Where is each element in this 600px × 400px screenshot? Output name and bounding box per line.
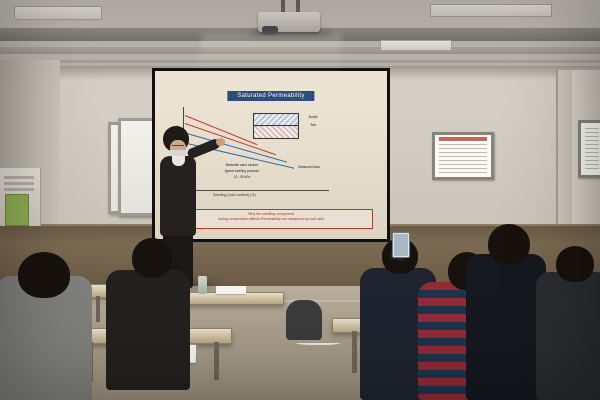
water-bottle [198, 276, 207, 294]
chart-annotation-pressure: typical swelling pressure [207, 169, 277, 173]
chart-legend-model: Model [299, 115, 327, 119]
audience-head [132, 238, 172, 278]
notice-text-lines [585, 128, 599, 171]
notice-text-lines [439, 140, 487, 173]
air-conditioner-grill-icon [4, 176, 34, 179]
desk-leg [96, 296, 100, 322]
chart-annotation-range: 10 - 50 kPa [207, 175, 277, 179]
presenter-body [160, 156, 196, 236]
chart-x-label: Swelling (void content) (%) [213, 193, 256, 197]
projector-mount-rod [296, 0, 300, 12]
smartphone-screen [394, 234, 408, 256]
chart-band-test [253, 125, 299, 139]
desk-leg [214, 342, 219, 380]
audience-member [286, 300, 322, 340]
slide-highlight-box: Why the swelling component during constr… [169, 209, 373, 229]
smartphone[interactable] [392, 232, 410, 258]
audience-member [106, 270, 190, 390]
framed-notice [578, 120, 600, 178]
framed-notice [432, 132, 494, 180]
audience-head [18, 252, 70, 298]
audience-head [556, 246, 594, 282]
papers-on-desk [216, 286, 246, 294]
chart-annotation-measured: Measured data [287, 165, 331, 169]
audience-member [466, 254, 546, 400]
slide-title: Saturated Permeability [227, 91, 314, 101]
desk-leg [352, 331, 357, 373]
presenter-hand [216, 138, 225, 146]
ceiling-light [430, 4, 552, 17]
audience-head [488, 224, 530, 264]
presenter-glasses-icon [172, 145, 184, 149]
chart-legend-test: Test [299, 123, 327, 127]
chart-annotation-bentonite: Bentonite sand mixture [207, 163, 277, 167]
power-cable [296, 340, 340, 345]
ceiling-light [14, 6, 102, 20]
audience-member [536, 272, 600, 400]
ceiling-light [380, 40, 452, 51]
chart-x-axis [183, 190, 329, 191]
classroom-photo: Saturated Permeability Permeability (m/s… [0, 0, 600, 400]
slide-highlight-line-2: during construction affects Permeability… [170, 217, 372, 222]
projector-light-beam [198, 34, 342, 74]
wall-poster [5, 194, 29, 226]
